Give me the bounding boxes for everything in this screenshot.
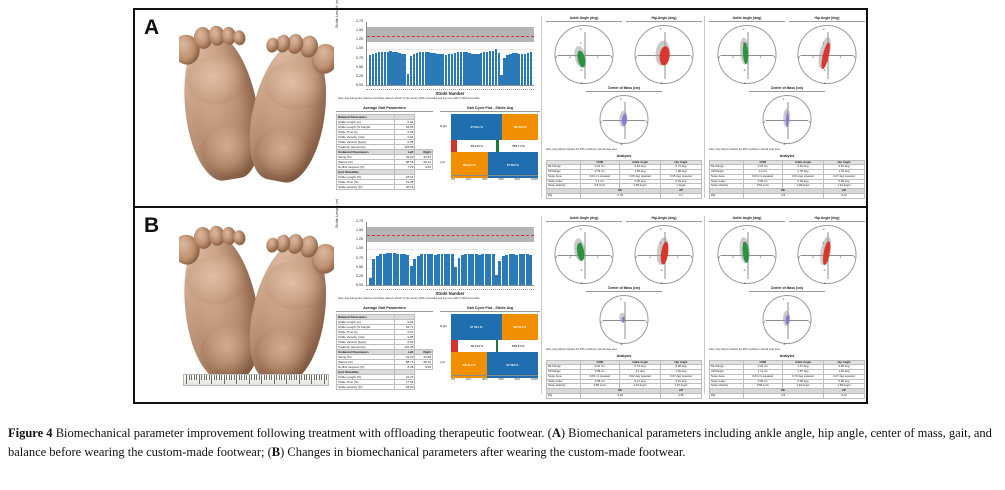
ruler-tick: [246, 375, 247, 380]
ruler-tick: [291, 375, 292, 380]
ruler-tick: [199, 375, 200, 384]
polar-plot-com: Center of Mass (cm)1-1-11: [749, 86, 825, 148]
polar-xtick: 1: [809, 321, 811, 324]
polar-ytick: -1: [660, 82, 663, 85]
polar-plot-title: Center of Mass (cm): [749, 286, 825, 292]
heel-region: [249, 123, 312, 183]
ruler-tick: [329, 375, 330, 380]
polar-ytick: -1: [823, 269, 826, 272]
polar-plot-group: Ankle Angle (deg)21-1-2-2-112Hip Angle (…: [707, 16, 867, 198]
caption-panel-b-letter: B: [272, 445, 280, 459]
polar-plot-title: Hip Angle (deg): [626, 16, 702, 22]
ruler-tick: [321, 375, 322, 380]
polar-circle: [635, 25, 694, 84]
gait-cycle-rows: ST 59.1 %SW 40.9 %SS 44.6 %TDS 7.3 %SW 4…: [451, 114, 538, 171]
ytick: 0.25: [356, 75, 363, 79]
ruler-tick: [229, 375, 230, 380]
stride-bar: [529, 255, 532, 285]
gait-cycle-xticks: 0%20%40%60%80%100%: [451, 377, 538, 381]
group-divider: [541, 216, 542, 394]
summary-value: 0.7: [660, 193, 701, 198]
summary-label: RQ: [547, 393, 581, 398]
ruler-tick: [284, 375, 285, 380]
gait-cycle-segment: SS 44.3 %: [458, 340, 495, 352]
row-value: 9.83: [415, 164, 433, 169]
stride-chart-xlabel: Stride Number: [366, 91, 534, 96]
xtick: 80%: [515, 377, 521, 381]
analysis-table: AnalysisCOMAnkle AngleHip AngleML Range0…: [546, 154, 702, 199]
polar-plot-ankle: Ankle Angle (deg)21-1-2-2-112: [709, 216, 785, 288]
polar-plot-ankle: Ankle Angle (deg)21-1-2-2-112: [546, 216, 622, 288]
row-value: 20.16: [395, 185, 415, 190]
polar-ytick: -2: [660, 282, 663, 285]
polar-xtick: -2: [798, 256, 801, 259]
stride-bars: [369, 22, 532, 85]
xtick: 100%: [531, 177, 538, 181]
summary-value: 0.78: [580, 193, 660, 198]
stride-and-tables-column: Stride Length (m)1.751.501.251.000.750.5…: [336, 16, 540, 200]
summary-value: 0.24: [823, 393, 864, 398]
polar-xtick: -1: [649, 256, 652, 259]
polar-ytick: 1: [580, 42, 582, 45]
ruler-tick: [301, 375, 302, 380]
analysis-summary-row: RQ0.780.7: [547, 193, 702, 198]
polar-plot-ankle: Ankle Angle (deg)21-1-2-2-112: [709, 16, 785, 88]
analysis-table: AnalysisCOMAnkle AngleHip AngleML Range0…: [709, 154, 865, 199]
group-divider: [704, 216, 705, 394]
ruler-tick: [186, 375, 187, 384]
ruler-tick: [211, 375, 212, 384]
gait-cycle-segment: ST 58.1 %: [451, 314, 502, 340]
xtick: 20%: [466, 177, 472, 181]
caption-label: Figure 4: [8, 426, 53, 440]
xtick: 40%: [482, 177, 488, 181]
gait-cycle-plot: Gait Cycle Plot - Stride AvgRightLeftST …: [440, 306, 540, 380]
analysis-grid: COMAnkle AngleHip AngleML Range0.15 cm0.…: [709, 160, 865, 199]
polar-plot-ankle: Ankle Angle (deg)21-1-2-2-112: [546, 16, 622, 88]
polar-plot-title: Center of Mass (cm): [749, 86, 825, 92]
gait-cycle-row: ST 59.1 %SW 40.9 %: [451, 114, 538, 140]
polar-circle: [635, 225, 694, 284]
polar-circle: [718, 25, 777, 84]
ruler-tick: [244, 375, 245, 380]
polar-xtick: -1: [600, 121, 603, 124]
stride-chart-note: Note: Age and gender matched normative d…: [338, 98, 538, 101]
plantar-foot-photo: [179, 16, 334, 198]
summary-value: 0.24: [823, 193, 864, 198]
polar-ytick: -2: [823, 82, 826, 85]
polar-xtick: 1: [840, 56, 842, 59]
ruler-tick: [206, 375, 207, 380]
analysis-table: AnalysisCOMAnkle AngleHip AngleML Range0…: [546, 354, 702, 399]
polar-ytick: 2: [743, 28, 745, 31]
gait-cycle-segment: TDS 8.4 %: [498, 340, 538, 352]
polar-ytick: -2: [743, 282, 746, 285]
ruler-tick: [254, 375, 255, 380]
ruler-tick: [314, 375, 315, 380]
ruler-tick: [269, 375, 270, 380]
stride-chart-plot-area: [366, 22, 534, 86]
polar-xtick: 1: [646, 321, 648, 324]
analysis-table: AnalysisCOMAnkle AngleHip AngleML Range0…: [709, 354, 865, 399]
ruler-tick: [311, 375, 312, 384]
ruler-tick: [261, 375, 262, 384]
polar-xtick: -1: [732, 256, 735, 259]
ytick: 1.25: [356, 38, 363, 42]
gait-parameters-grid: Bilateral ParametersStride Length (m)0.9…: [336, 314, 433, 391]
stride-chart-plot-area: [366, 222, 534, 286]
polar-plot-title: Ankle Angle (deg): [546, 216, 622, 222]
polar-xtick: -2: [718, 56, 721, 59]
gait-cycle-body: RightLeftST 58.1 %SW 41.9 %SS 44.3 %TDS …: [440, 314, 540, 380]
polar-ytick: -1: [660, 269, 663, 272]
polar-ytick: 1: [743, 42, 745, 45]
ruler-tick: [309, 375, 310, 380]
xtick: 0%: [451, 177, 455, 181]
gait-cycle-row: ST 58.1 %SW 41.9 %: [451, 314, 538, 340]
polar-plot-title: Center of Mass (cm): [586, 86, 662, 92]
ruler-tick: [316, 375, 317, 380]
analysis-title: Analysis: [546, 354, 702, 358]
ruler-tick: [209, 375, 210, 380]
polar-ytick: -1: [823, 69, 826, 72]
ruler-tick: [326, 375, 327, 380]
gait-table-title: Average Gait Parameters: [336, 106, 433, 112]
xtick: 40%: [482, 377, 488, 381]
polar-plot-com: Center of Mass (cm)1-1-11: [586, 86, 662, 148]
ruler-tick: [241, 375, 242, 380]
figure-panel-box: AStride Length (m)1.751.501.251.000.750.…: [133, 8, 868, 404]
xtick: 80%: [515, 177, 521, 181]
polar-xtick: 1: [760, 56, 762, 59]
polar-plot-com: Center of Mass (cm)1-1-11: [749, 286, 825, 348]
polar-xtick: 1: [809, 121, 811, 124]
polar-plot-title: Center of Mass (cm): [586, 286, 662, 292]
polar-ytick: 2: [823, 28, 825, 31]
confidence-note: Note: Gray ellipse indicates the 95% con…: [709, 149, 865, 152]
polar-ytick: -2: [580, 82, 583, 85]
polar-ytick: -2: [823, 282, 826, 285]
gait-cycle-title: Gait Cycle Plot - Stride Avg: [440, 306, 540, 312]
gait-cycle-rows: ST 58.1 %SW 41.9 %SS 44.3 %TDS 8.4 %SW 4…: [451, 314, 538, 371]
ruler-tick: [294, 375, 295, 380]
gait-cycle-segment: SW 40.9 %: [502, 114, 538, 140]
polar-ytick: -2: [580, 282, 583, 285]
polar-plot-com: Center of Mass (cm)1-1-11: [586, 286, 662, 348]
caption-panel-a-letter: A: [552, 426, 561, 440]
ruler-tick: [236, 375, 237, 384]
polar-xtick: -1: [569, 256, 572, 259]
ruler-tick: [266, 375, 267, 380]
data-cloud: [785, 314, 789, 325]
polar-circle: [600, 95, 649, 144]
ruler-tick: [256, 375, 257, 380]
polar-ytick: -1: [620, 143, 623, 146]
ruler-tick: [324, 375, 325, 384]
polar-ytick: -1: [743, 269, 746, 272]
stride-and-tables-column: Stride Length (m)1.751.501.251.000.750.5…: [336, 216, 540, 400]
gait-cycle-segment: TDS 7.3 %: [499, 140, 538, 152]
confidence-note: Note: Gray ellipse indicates the 95% con…: [546, 149, 702, 152]
gait-cycle-segment: ST 59.1 %: [451, 114, 502, 140]
group-divider: [541, 16, 542, 198]
gait-cycle-row: SS 44.6 %TDS 7.3 %: [451, 140, 538, 152]
polar-circle: [600, 295, 649, 344]
polar-ytick: -1: [620, 343, 623, 346]
polar-plot-title: Ankle Angle (deg): [709, 16, 785, 22]
summary-value: 0.55: [660, 393, 701, 398]
polar-xtick: 1: [760, 256, 762, 259]
xtick: 60%: [498, 377, 504, 381]
ruler-tick: [279, 375, 280, 380]
polar-ytick: 1: [743, 242, 745, 245]
ytick: 1.75: [356, 220, 363, 224]
panel-b: BStride Length (m)1.751.501.251.000.750.…: [135, 208, 866, 402]
gait-cycle-title: Gait Cycle Plot - Stride Avg: [440, 106, 540, 112]
figure-container: AStride Length (m)1.751.501.251.000.750.…: [0, 0, 1005, 490]
polar-plot-group: Ankle Angle (deg)21-1-2-2-112Hip Angle (…: [544, 16, 704, 198]
summary-label: RQ: [710, 393, 744, 398]
polar-plot-group: Ankle Angle (deg)21-1-2-2-112Hip Angle (…: [707, 216, 867, 394]
polar-circle: [798, 225, 857, 284]
summary-value: 0.62: [580, 393, 660, 398]
ytick: 0.00: [356, 84, 363, 88]
ytick: 1.75: [356, 20, 363, 24]
polar-xtick: -2: [555, 56, 558, 59]
polar-xtick: -2: [555, 256, 558, 259]
ruler-tick: [249, 375, 250, 384]
polar-ytick: -1: [743, 69, 746, 72]
ytick: 0.00: [356, 284, 363, 288]
polar-xtick: -2: [798, 56, 801, 59]
polar-ytick: 1: [660, 242, 662, 245]
ruler-tick: [226, 375, 227, 380]
polar-ytick: -1: [580, 269, 583, 272]
analysis-title: Analysis: [546, 154, 702, 158]
polar-ytick: -1: [783, 343, 786, 346]
analysis-grid: COMAnkle AngleHip AngleML Range0.20 cm0.…: [546, 360, 702, 399]
polar-ytick: -1: [783, 143, 786, 146]
polar-plot-title: Ankle Angle (deg): [709, 216, 785, 222]
xtick: 20%: [466, 377, 472, 381]
polar-plot-title: Hip Angle (deg): [626, 216, 702, 222]
ytick: 0.50: [356, 266, 363, 270]
xtick: 60%: [498, 177, 504, 181]
polar-xtick: 2: [691, 256, 693, 259]
polar-xtick: 1: [646, 121, 648, 124]
summary-label: RQ: [547, 193, 581, 198]
caption-text-3: ) Changes in biomechanical parameters af…: [280, 445, 685, 459]
ruler-tick: [224, 375, 225, 384]
analysis-summary-row: RQ0.50.24: [710, 393, 865, 398]
polar-ytick: 1: [620, 98, 622, 101]
ruler-tick: [189, 375, 190, 380]
panel-a: AStride Length (m)1.751.501.251.000.750.…: [135, 10, 866, 206]
xtick: 0%: [451, 377, 455, 381]
row-value: 18.20: [395, 385, 415, 390]
ytick: 0.25: [356, 275, 363, 279]
row-label: Stride Velocity (%): [337, 385, 395, 390]
polar-plot-hip: Hip Angle (deg)21-1-2-2-112: [789, 216, 865, 288]
polar-xtick: 1: [840, 256, 842, 259]
polar-xtick: -2: [635, 256, 638, 259]
ruler-tick: [191, 375, 192, 380]
polar-ytick: 1: [823, 242, 825, 245]
ytick: 1.00: [356, 47, 363, 51]
ruler-tick: [231, 375, 232, 380]
ruler-tick: [274, 375, 275, 384]
polar-xtick: 2: [774, 256, 776, 259]
stride-chart-xaxis: [366, 289, 534, 290]
ruler-tick: [271, 375, 272, 380]
data-cloud: [621, 114, 627, 127]
foot-right: [240, 236, 334, 387]
row-label: Stride Velocity (%): [337, 185, 395, 190]
ruler-tick: [234, 375, 235, 380]
polar-circle: [555, 225, 614, 284]
ruler-tick: [204, 375, 205, 380]
table-row: Stride Velocity (%)20.16: [337, 185, 433, 190]
polar-ytick: 1: [783, 298, 785, 301]
gait-cycle-left-label: Left: [440, 360, 451, 364]
polar-ytick: 2: [580, 28, 582, 31]
stride-bar: [530, 52, 532, 85]
toe-5: [232, 229, 246, 246]
stride-bars: [369, 222, 532, 285]
panel-letter-b: B: [144, 214, 159, 238]
analysis-grid: COMAnkle AngleHip AngleML Range0.24 cm1.…: [709, 360, 865, 399]
polar-plot-title: Hip Angle (deg): [789, 16, 865, 22]
polar-ytick: -2: [743, 82, 746, 85]
stride-chart-note: Note: Age and gender matched normative d…: [338, 298, 538, 301]
analysis-title: Analysis: [709, 354, 865, 358]
gait-cycle-segment: [451, 340, 458, 352]
gait-cycle-left-label: Left: [440, 160, 451, 164]
polar-xtick: -1: [812, 56, 815, 59]
ruler-tick: [289, 375, 290, 380]
caption-text-1: Biomechanical parameter improvement foll…: [53, 426, 552, 440]
panel-letter-a: A: [144, 16, 159, 40]
average-gait-parameters-table: Average Gait ParametersBilateral Paramet…: [336, 106, 433, 190]
polar-xtick: -1: [763, 321, 766, 324]
ruler-tick: [216, 375, 217, 380]
measuring-ruler: [183, 374, 329, 386]
confidence-note: Note: Gray ellipse indicates the 95% con…: [709, 349, 865, 352]
polar-xtick: -2: [718, 256, 721, 259]
ruler-tick: [239, 375, 240, 380]
gait-cycle-xaxis: [451, 175, 538, 176]
ytick: 1.50: [356, 229, 363, 233]
ruler-tick: [221, 375, 222, 380]
ytick: 0.75: [356, 57, 363, 61]
polar-xtick: 2: [854, 256, 856, 259]
stride-chart-xlabel: Stride Number: [366, 291, 534, 296]
analysis-summary-row: RQ0.50.24: [710, 193, 865, 198]
polar-xtick: -1: [635, 56, 638, 59]
row-value: 8.95: [415, 364, 433, 369]
polar-ytick: 2: [580, 228, 582, 231]
polar-ytick: 2: [823, 228, 825, 231]
polar-xtick: 1: [597, 56, 599, 59]
ruler-tick: [251, 375, 252, 380]
polar-plot-group: Ankle Angle (deg)21-1-2-2-112Hip Angle (…: [544, 216, 704, 394]
polar-xtick: -1: [732, 56, 735, 59]
gait-cycle-right-label: Right: [440, 124, 451, 128]
data-cloud: [785, 112, 789, 126]
ruler-tick: [259, 375, 260, 380]
gait-cycle-segment: SW 41.9 %: [502, 314, 538, 340]
group-divider: [704, 16, 705, 198]
ruler-tick: [264, 375, 265, 380]
ruler-tick: [201, 375, 202, 380]
foot-right: [240, 36, 334, 187]
polar-xtick: 1: [677, 256, 679, 259]
polar-xtick: 2: [854, 56, 856, 59]
summary-value: 0.5: [743, 193, 823, 198]
polar-ytick: 1: [620, 298, 622, 301]
polar-xtick: -1: [812, 256, 815, 259]
gait-parameters-grid: Bilateral ParametersStride Length (m)0.9…: [336, 114, 433, 191]
ruler-tick: [214, 375, 215, 380]
stride-chart-yaxis-ticks: 1.751.501.251.000.750.500.250.00: [336, 218, 365, 290]
polar-xtick: 1: [691, 56, 693, 59]
ruler-tick: [286, 375, 287, 384]
ytick: 0.75: [356, 257, 363, 261]
summary-value: 0.5: [743, 393, 823, 398]
polar-ytick: 1: [783, 98, 785, 101]
ytick: 1.00: [356, 247, 363, 251]
gait-table-title: Average Gait Parameters: [336, 306, 433, 312]
ruler-tick: [281, 375, 282, 380]
gait-cycle-plot: Gait Cycle Plot - Stride AvgRightLeftST …: [440, 106, 540, 180]
polar-xtick: -1: [600, 321, 603, 324]
xtick: 100%: [531, 377, 538, 381]
ruler-tick: [276, 375, 277, 380]
polar-plot-title: Ankle Angle (deg): [546, 16, 622, 22]
stride-length-chart: Stride Length (m)1.751.501.251.000.750.5…: [336, 218, 540, 304]
ruler-tick: [299, 375, 300, 384]
polar-xtick: -1: [763, 121, 766, 124]
polar-ytick: 2: [743, 228, 745, 231]
polar-xtick: 1: [597, 256, 599, 259]
plantar-foot-photo: [179, 216, 334, 394]
polar-circle: [798, 25, 857, 84]
average-gait-parameters-table: Average Gait ParametersBilateral Paramet…: [336, 306, 433, 390]
ruler-tick: [319, 375, 320, 380]
figure-caption: Figure 4 Biomechanical parameter improve…: [8, 424, 998, 463]
stride-chart-yaxis-ticks: 1.751.501.251.000.750.500.250.00: [336, 18, 365, 90]
ruler-tick: [296, 375, 297, 380]
stride-length-chart: Stride Length (m)1.751.501.251.000.750.5…: [336, 18, 540, 104]
polar-ytick: 1: [580, 242, 582, 245]
polar-xtick: 2: [774, 56, 776, 59]
stride-chart-xaxis: [366, 89, 534, 90]
gait-cycle-right-label: Right: [440, 324, 451, 328]
polar-xtick: 2: [611, 56, 613, 59]
ruler-tick: [304, 375, 305, 380]
gait-cycle-xaxis: [451, 375, 538, 376]
polar-circle: [555, 25, 614, 84]
gait-cycle-xticks: 0%20%40%60%80%100%: [451, 177, 538, 181]
ytick: 1.25: [356, 238, 363, 242]
polar-ytick: -1: [580, 69, 583, 72]
gait-cycle-body: RightLeftST 59.1 %SW 40.9 %SS 44.6 %TDS …: [440, 114, 540, 180]
polar-plot-hip: Hip Angle (deg)21-1-2-2-112: [626, 216, 702, 288]
ytick: 0.50: [356, 66, 363, 70]
polar-circle: [763, 95, 812, 144]
gait-cycle-segment: SS 44.6 %: [457, 140, 496, 152]
polar-xtick: 2: [611, 256, 613, 259]
